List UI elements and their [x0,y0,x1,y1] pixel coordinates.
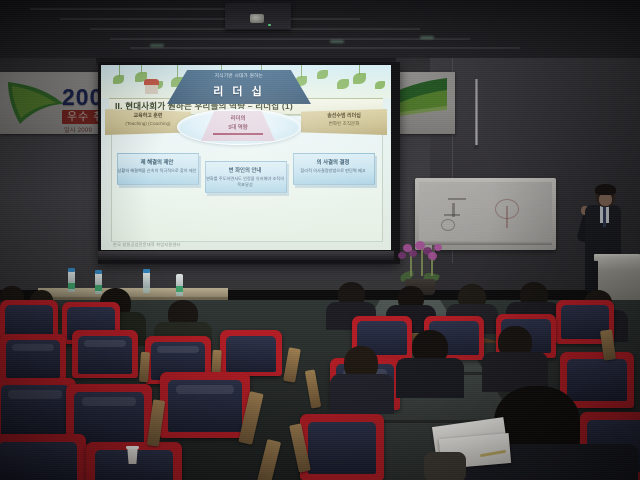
water-bottle-cap [68,268,75,272]
slide-bottom-box-3-sub: 합리적 의사결정방법으로 판단력 제고 [293,168,373,174]
water-bottle-cap [143,269,150,273]
orchid-flower [434,244,442,251]
projection-screen: II. 현대사회가 원하는 우리들의 역량 – 리더십 (1) 지식기반 시대가… [101,65,391,250]
water-bottle-label [95,285,102,291]
auditorium-seat[interactable] [300,414,384,480]
slide-side-box-left-title: 교육하고 훈련 [105,112,191,119]
screen-bottom-rail [98,251,394,260]
ceiling-slat [60,18,360,20]
slide-footer: 한국 창원공업전문대학 취업지원센터 [113,242,379,248]
support-pole-cap [474,145,479,149]
speaker-tie [603,207,606,227]
slide-center-line2: 5대 역량 [201,123,275,131]
auditorium-seat[interactable] [220,330,282,376]
slide-center-line1: 리더의 [201,114,275,122]
slide-bottom-box-2-title: 변 화인의 안내 [205,166,285,174]
ceiling-slat [130,47,520,49]
ceiling-slat [110,38,470,40]
orchid-flower [428,252,437,260]
slide-side-box-right-sub: 변화된 조직문화 [301,121,387,127]
slide-bottom-box-2-sub: 변화를 주도하면서도 안정을 유지해야 조직의 목표달성 [205,176,285,187]
auditorium-seat[interactable] [0,334,66,382]
slide-side-box-right-title: 솔선수범 리더십 [301,112,387,119]
water-bottle [176,274,183,296]
paper-cup-rim [126,446,139,449]
orchid-flower [398,252,406,259]
auditorium-seat[interactable] [0,378,76,440]
water-bottle [143,271,150,293]
whiteboard-shading [419,182,552,244]
water-bottle-cap [95,270,102,274]
orchid-flower [409,250,417,257]
speaker-hair [595,184,616,195]
auditorium-seat[interactable] [160,372,250,438]
projector-lens-icon [250,14,264,23]
ceiling-light [150,44,164,47]
banner-logo-swoosh-icon [6,78,68,128]
support-pole [475,79,478,147]
ceiling-light [330,40,344,43]
slide-roof-subtitle: 지식기반 시대가 원하는 [167,73,311,79]
auditorium-seat[interactable] [72,330,138,378]
slide-center-underline [213,133,263,135]
photo-scene: 200 우수 취업 일시 2009 수회 공전학교본 한국 창원공학교 [0,0,640,480]
water-bottle-label [176,286,183,292]
banner-date: 일시 2009 [64,125,92,134]
projector-led-icon [268,24,271,26]
auditorium-seat[interactable] [0,434,86,480]
front-table [38,288,228,297]
slide-bottom-box-1-sub: 상황의 해결책을 신속히 적극적으로 찾아 제안 [117,168,197,174]
slide-bottom-box-1-title: 제 해결의 제안 [117,158,197,166]
water-bottle-label [68,283,75,289]
slide-bottom-box-3-title: 의 사결의 결정 [293,158,373,166]
slide-roof-title: 리 더 십 [167,83,311,99]
ceiling-light [420,36,434,39]
